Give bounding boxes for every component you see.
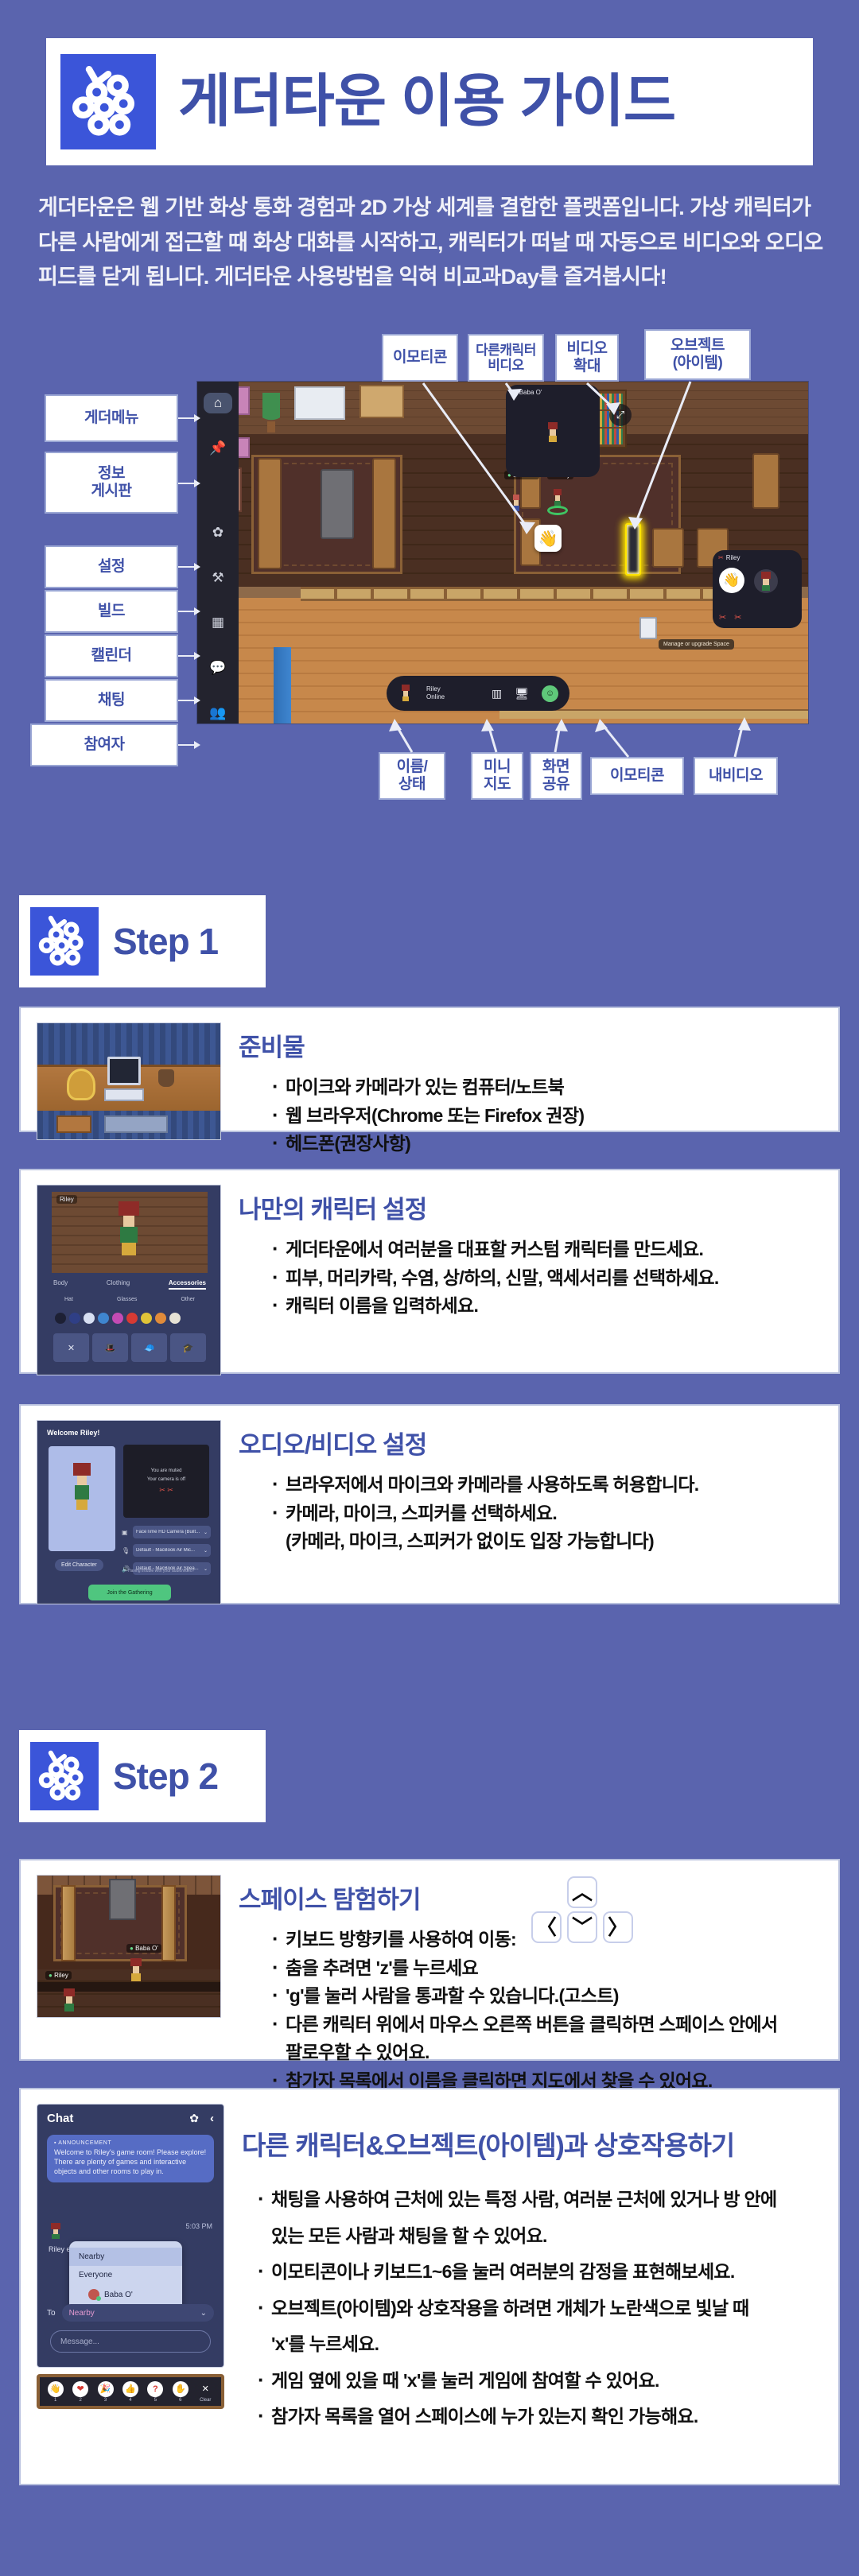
chat-message-time: 5:03 PM — [185, 2222, 212, 2230]
camera-icon: ▣ — [122, 1529, 130, 1536]
intro-paragraph: 게더타운은 웹 기반 화상 통화 경험과 2D 가상 세계를 결합한 플랫폼입니… — [38, 191, 826, 295]
chat-message-input[interactable]: Message... — [50, 2330, 211, 2353]
thumb-edit-character-button[interactable]: Edit Character — [55, 1559, 103, 1571]
step-1-banner: Step 1 — [19, 895, 266, 987]
thumb-drawer — [56, 1115, 91, 1133]
chat-recipient-dropdown[interactable]: Nearby Everyone Baba O' — [69, 2241, 182, 2313]
emote-button-3[interactable]: 🎉 3 — [98, 2381, 114, 2403]
list-item: 피부, 머리카락, 수염, 상/하의, 신말, 액세서리를 선택하세요. — [272, 1265, 822, 1292]
page-header: 게더타운 이용 가이드 — [46, 38, 813, 165]
list-item: 게임 옆에 있을 때 'x'를 눌러 게임에 참여할 수 있어요. — [258, 2368, 822, 2395]
card-av-setup-body: 오디오/비디오 설정 브라우저에서 마이크와 카메라를 사용하도록 허용합니다.… — [239, 1420, 822, 1589]
list-item: 춤을 추려면 'z'를 누르세요 — [272, 1955, 822, 1982]
desk-computer-thumbnail — [37, 1022, 221, 1140]
list-item: 있는 모든 사람과 채팅을 할 수 있어요. — [258, 2223, 822, 2250]
chat-message-row: 5:03 PM — [49, 2222, 212, 2240]
guide-page: 게더타운 이용 가이드 게더타운은 웹 기반 화상 통화 경험과 2D 가상 세… — [0, 0, 859, 2576]
list-item: 이모티콘이나 키보드1~6을 눌러 여러분의 감정을 표현해보세요. — [258, 2259, 822, 2286]
heart-emoji: ❤ — [72, 2381, 88, 2397]
thumb-camera-off-panel: You are muted Your camera is off ✂ ✂ — [123, 1445, 209, 1518]
av-setup-thumbnail: Welcome Riley! You are muted Your camera… — [37, 1420, 221, 1604]
thumb-monitor — [107, 1057, 141, 1085]
card-supplies-title: 준비물 — [239, 1027, 822, 1063]
chat-to-label: To — [47, 2309, 56, 2318]
card-character-setup: Riley Body Clothing Accessories Hat Glas… — [19, 1169, 840, 1374]
chevron-down-icon: ⌄ — [204, 1530, 208, 1535]
card-supplies: 준비물 마이크와 카메라가 있는 컴퓨터/노트북 웹 브라우저(Chrome 또… — [19, 1007, 840, 1132]
list-item: 게더타운에서 여러분을 대표할 커스텀 캐릭터를 만드세요. — [272, 1236, 822, 1263]
step-2-banner: Step 2 — [19, 1730, 266, 1822]
card-explore-space: ● Baba O' ● Riley 스페이스 탐험하기 ︿ 〈 ﹀ — [19, 1859, 840, 2061]
chat-panel-header: Chat ✿ ‹ — [37, 2105, 223, 2132]
thumb-camera-select-row[interactable]: ▣ FaceTime HD Camera (Built... ⌄ — [122, 1526, 211, 1538]
gear-icon[interactable]: ✿ — [189, 2112, 199, 2125]
thumb-tag-baba: ● Baba O' — [126, 1944, 161, 1953]
dropdown-option-person[interactable]: Baba O' — [69, 2284, 182, 2305]
raisehand-emoji: ✋ — [173, 2381, 189, 2397]
thumb-tab-clothing[interactable]: Clothing — [107, 1279, 130, 1290]
chevron-down-icon: ⌄ — [204, 1548, 208, 1554]
emote-clear-button[interactable]: ✕ Clear — [197, 2381, 213, 2403]
step-1-label: Step 1 — [113, 920, 218, 963]
thumb-keyboard — [104, 1088, 144, 1101]
list-item: 키보드 방향키를 사용하여 이동: — [272, 1926, 822, 1953]
list-item: 채팅을 사용하여 근처에 있는 특정 사람, 여러분 근처에 있거나 방 안에 — [258, 2186, 822, 2213]
wave-emoji: 👋 — [48, 2381, 64, 2397]
list-item: 팔로우할 수 있어요. — [272, 2039, 822, 2066]
dropdown-option-nearby[interactable]: Nearby — [69, 2248, 182, 2266]
thumb-color-swatches[interactable] — [55, 1313, 181, 1324]
thumb-item-1[interactable]: 🎩 — [92, 1333, 128, 1362]
list-item: 브라우저에서 마이크와 카메라를 사용하도록 허용합니다. — [272, 1472, 822, 1499]
character-builder-thumbnail: Riley Body Clothing Accessories Hat Glas… — [37, 1185, 221, 1375]
emote-button-5[interactable]: ? 5 — [147, 2381, 163, 2403]
list-item: 카메라, 마이크, 스피커를 선택하세요. — [272, 1500, 822, 1527]
microphone-icon: 🎙 — [122, 1547, 130, 1554]
list-item: 'g'를 눌러 사람을 통과할 수 있습니다.(고스트) — [272, 1983, 822, 2010]
chevron-down-icon: ⌄ — [200, 2309, 207, 2318]
annotated-screenshot-diagram: ● Baba O' ● Riley 👋 Manage or upgrade Sp… — [0, 318, 859, 803]
chat-to-row: To Nearby ⌄ — [47, 2303, 214, 2322]
up-arrow-key[interactable]: ︿ — [567, 1876, 597, 1908]
thumb-character-tabs[interactable]: Body Clothing Accessories — [53, 1279, 206, 1290]
thumb-subtab-other[interactable]: Other — [181, 1297, 195, 1302]
chat-avatar — [49, 2222, 63, 2240]
leader-lines-bottom — [0, 318, 859, 803]
list-item: 캐릭터 이름을 입력하세요. — [272, 1293, 822, 1320]
card-av-setup-list: 브라우저에서 마이크와 카메라를 사용하도록 허용합니다. 카메라, 마이크, … — [239, 1472, 822, 1555]
list-item: 'x'를 누르세요. — [258, 2331, 822, 2358]
chat-announcement-label: ▪ ANNOUNCEMENT — [54, 2140, 207, 2146]
emote-button-1[interactable]: 👋 1 — [48, 2381, 64, 2403]
thumb-join-button[interactable]: Join the Gathering — [88, 1585, 171, 1600]
thumb-character-name: Riley — [56, 1195, 77, 1204]
chevron-left-icon[interactable]: ‹ — [210, 2112, 214, 2125]
microphone-select[interactable]: Default - MacBook Air Mic... ⌄ — [133, 1544, 211, 1557]
emote-button-4[interactable]: 👍 4 — [122, 2381, 138, 2403]
question-emoji: ? — [147, 2381, 163, 2397]
thumb-item-none[interactable]: ✕ — [53, 1333, 89, 1362]
thumb-character-subtabs[interactable]: Hat Glasses Other — [64, 1297, 195, 1302]
thumb-tab-body[interactable]: Body — [53, 1279, 68, 1290]
thumb-item-3[interactable]: 🎓 — [170, 1333, 206, 1362]
card-supplies-body: 준비물 마이크와 카메라가 있는 컴퓨터/노트북 웹 브라우저(Chrome 또… — [239, 1022, 822, 1116]
card-explore-space-body: 스페이스 탐험하기 ︿ 〈 ﹀ 〉 키보드 방향키를 사용하여 이동: 춤을 추… — [239, 1875, 822, 2045]
thumb-avatar-b — [60, 1987, 79, 2014]
list-item: 참가자 목록을 열어 스페이스에 누가 있는지 확인 가능해요. — [258, 2403, 822, 2431]
list-item: 헤드폰(권장사항) — [272, 1131, 822, 1158]
thumb-camoff-text: Your camera is off — [147, 1477, 185, 1482]
card-av-setup: Welcome Riley! You are muted Your camera… — [19, 1404, 840, 1604]
dropdown-option-everyone[interactable]: Everyone — [69, 2266, 182, 2284]
thumb-item-grid[interactable]: ✕ 🎩 🧢 🎓 — [53, 1333, 206, 1362]
card-character-setup-list: 게더타운에서 여러분을 대표할 커스텀 캐릭터를 만드세요. 피부, 머리카락,… — [239, 1236, 822, 1320]
card-interaction-body: 다른 캐릭터&오브젝트(아이템)과 상호작용하기 채팅을 사용하여 근처에 있는… — [242, 2104, 822, 2469]
emote-toolbar[interactable]: 👋 1 ❤ 2 🎉 3 👍 4 ? 5 — [37, 2374, 224, 2409]
chat-panel-thumbnail: Chat ✿ ‹ ▪ ANNOUNCEMENT Welcome to Riley… — [37, 2104, 224, 2368]
thumb-avatar-preview — [49, 1446, 115, 1551]
thumb-muted-icons: ✂ ✂ — [159, 1486, 173, 1495]
list-item: 오브젝트(아이템)와 상호작용을 하려면 개체가 노란색으로 빛날 때 — [258, 2295, 822, 2322]
thumb-item-2[interactable]: 🧢 — [131, 1333, 167, 1362]
thumb-tab-accessories[interactable]: Accessories — [169, 1279, 206, 1290]
card-interaction-title: 다른 캐릭터&오브젝트(아이템)과 상호작용하기 — [242, 2124, 822, 2163]
list-item: 다른 캐릭터 위에서 마우스 오른쪽 버튼을 클릭하면 스페이스 안에서 — [272, 2012, 822, 2039]
list-item: 마이크와 카메라가 있는 컴퓨터/노트북 — [272, 1074, 822, 1101]
card-supplies-list: 마이크와 카메라가 있는 컴퓨터/노트북 웹 브라우저(Chrome 또는 Fi… — [239, 1074, 822, 1158]
chat-panel-title: Chat — [47, 2112, 189, 2125]
thumb-muted-text: You are muted — [151, 1468, 182, 1473]
gather-logo-icon — [30, 1742, 99, 1810]
thumb-av-hint[interactable]: Having trouble with your audio/video? — [128, 1569, 194, 1573]
close-icon: ✕ — [197, 2381, 213, 2397]
party-emoji: 🎉 — [98, 2381, 114, 2397]
thumb-welcome-text: Welcome Riley! — [47, 1429, 99, 1437]
thumb-drawer-2 — [104, 1115, 168, 1133]
chevron-down-icon: ⌄ — [204, 1566, 208, 1572]
card-interaction: Chat ✿ ‹ ▪ ANNOUNCEMENT Welcome to Riley… — [19, 2088, 840, 2485]
avatar — [88, 2289, 99, 2300]
emote-button-6[interactable]: ✋ 6 — [173, 2381, 189, 2403]
list-item: (카메라, 마이크, 스피커가 없이도 입장 가능합니다) — [272, 1528, 822, 1555]
thumb-subtab-hat[interactable]: Hat — [64, 1297, 73, 1302]
gather-logo-icon — [30, 907, 99, 976]
thumbsup-emoji: 👍 — [122, 2381, 138, 2397]
chat-to-select[interactable]: Nearby ⌄ — [62, 2304, 214, 2322]
card-interaction-list: 채팅을 사용하여 근처에 있는 특정 사람, 여러분 근처에 있거나 방 안에 … — [242, 2186, 822, 2431]
card-av-setup-title: 오디오/비디오 설정 — [239, 1425, 822, 1461]
thumb-mic-select-row[interactable]: 🎙 Default - MacBook Air Mic... ⌄ — [122, 1544, 211, 1557]
thumb-chair — [69, 1071, 93, 1098]
gather-logo-icon — [60, 54, 156, 149]
thumb-tag-riley: ● Riley — [45, 1971, 72, 1980]
thumb-character-avatar — [111, 1198, 147, 1260]
explore-space-thumbnail: ● Baba O' ● Riley — [37, 1875, 221, 2018]
step-2-label: Step 2 — [113, 1755, 218, 1798]
thumb-avatar-a — [126, 1957, 146, 1984]
thumb-screen — [109, 1879, 136, 1920]
card-character-setup-body: 나만의 캐릭터 설정 게더타운에서 여러분을 대표할 커스텀 캐릭터를 만드세요… — [239, 1185, 822, 1358]
card-character-setup-title: 나만의 캐릭터 설정 — [239, 1189, 822, 1225]
chat-thumbnail-wrapper: Chat ✿ ‹ ▪ ANNOUNCEMENT Welcome to Riley… — [37, 2104, 224, 2469]
page-title: 게더타운 이용 가이드 — [178, 73, 675, 130]
thumb-subtab-glasses[interactable]: Glasses — [117, 1297, 137, 1302]
camera-select[interactable]: FaceTime HD Camera (Built... ⌄ — [133, 1526, 211, 1538]
emote-button-2[interactable]: ❤ 2 — [72, 2381, 88, 2403]
card-explore-space-list: 키보드 방향키를 사용하여 이동: 춤을 추려면 'z'를 누르세요 'g'를 … — [239, 1926, 822, 2094]
chat-announcement-text: Welcome to Riley's game room! Please exp… — [54, 2148, 207, 2177]
chat-announcement: ▪ ANNOUNCEMENT Welcome to Riley's game r… — [47, 2135, 214, 2182]
thumb-mug — [158, 1069, 174, 1087]
list-item: 웹 브라우저(Chrome 또는 Firefox 권장) — [272, 1103, 822, 1130]
